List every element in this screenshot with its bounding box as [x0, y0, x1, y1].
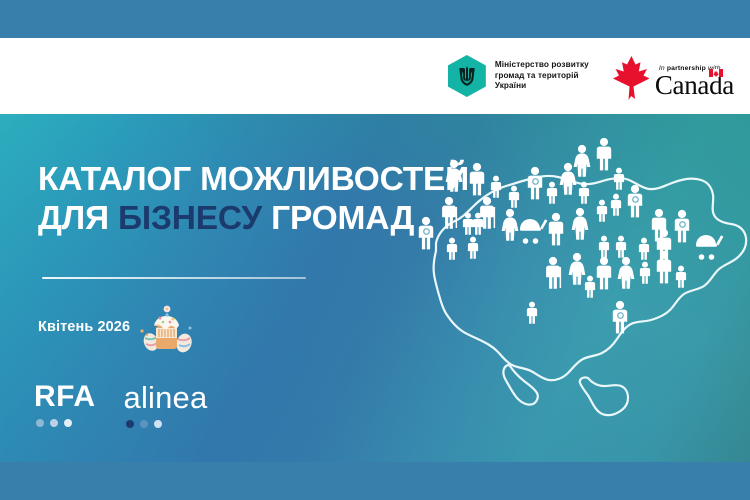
ukraine-trident-emblem-icon: [448, 55, 486, 97]
title-line-2: ДЛЯ БІЗНЕСУ ГРОМАД: [38, 199, 469, 238]
logo-header: Міністерство розвитку громад та територі…: [0, 38, 750, 114]
title-prefix: ДЛЯ: [38, 200, 118, 237]
title-suffix: ГРОМАД: [262, 200, 414, 237]
publication-date: Квітень 2026: [38, 319, 130, 335]
header-logo-group: Міністерство розвитку громад та територі…: [448, 38, 734, 114]
alinea-dot-3: [154, 420, 162, 428]
alinea-logo-dots: [124, 420, 208, 428]
presentation-slide: Міністерство розвитку громад та територі…: [0, 0, 750, 500]
canada-logo: In partnership with Canada: [611, 53, 734, 99]
alinea-logo: alinea: [124, 382, 208, 428]
ministry-name-line2: громад та територій: [495, 71, 589, 82]
ministry-logo: Міністерство розвитку громад та територі…: [448, 55, 589, 97]
rfa-logo: RFA: [34, 382, 96, 427]
alinea-dot-2: [140, 420, 148, 428]
title-divider: [42, 277, 306, 279]
title-accent-word: БІЗНЕСУ: [118, 200, 262, 237]
title-line-1: КАТАЛОГ МОЖЛИВОСТЕЙ: [38, 160, 469, 199]
rfa-logo-dots: [34, 419, 96, 427]
date-row: Квітень 2026: [38, 300, 198, 354]
rfa-dot-1: [36, 419, 44, 427]
partner-logos: RFA alinea: [34, 382, 207, 428]
canada-wordmark: Canada: [655, 72, 734, 99]
slide-title: КАТАЛОГ МОЖЛИВОСТЕЙ ДЛЯ БІЗНЕСУ ГРОМАД: [38, 160, 469, 238]
rfa-dot-3: [64, 419, 72, 427]
ministry-name-line1: Міністерство розвитку: [495, 60, 589, 71]
rfa-logo-text: RFA: [34, 382, 96, 412]
canada-flag-icon: [709, 69, 723, 77]
alinea-logo-text: alinea: [124, 382, 208, 413]
easter-paska-cake-icon: [134, 298, 198, 354]
alinea-dot-1: [126, 420, 134, 428]
ministry-name: Міністерство розвитку громад та територі…: [495, 60, 589, 92]
ministry-name-line3: України: [495, 81, 589, 92]
maple-leaf-icon: [611, 55, 651, 101]
bottom-color-band: [0, 462, 750, 500]
top-color-band: [0, 0, 750, 38]
rfa-dot-2: [50, 419, 58, 427]
